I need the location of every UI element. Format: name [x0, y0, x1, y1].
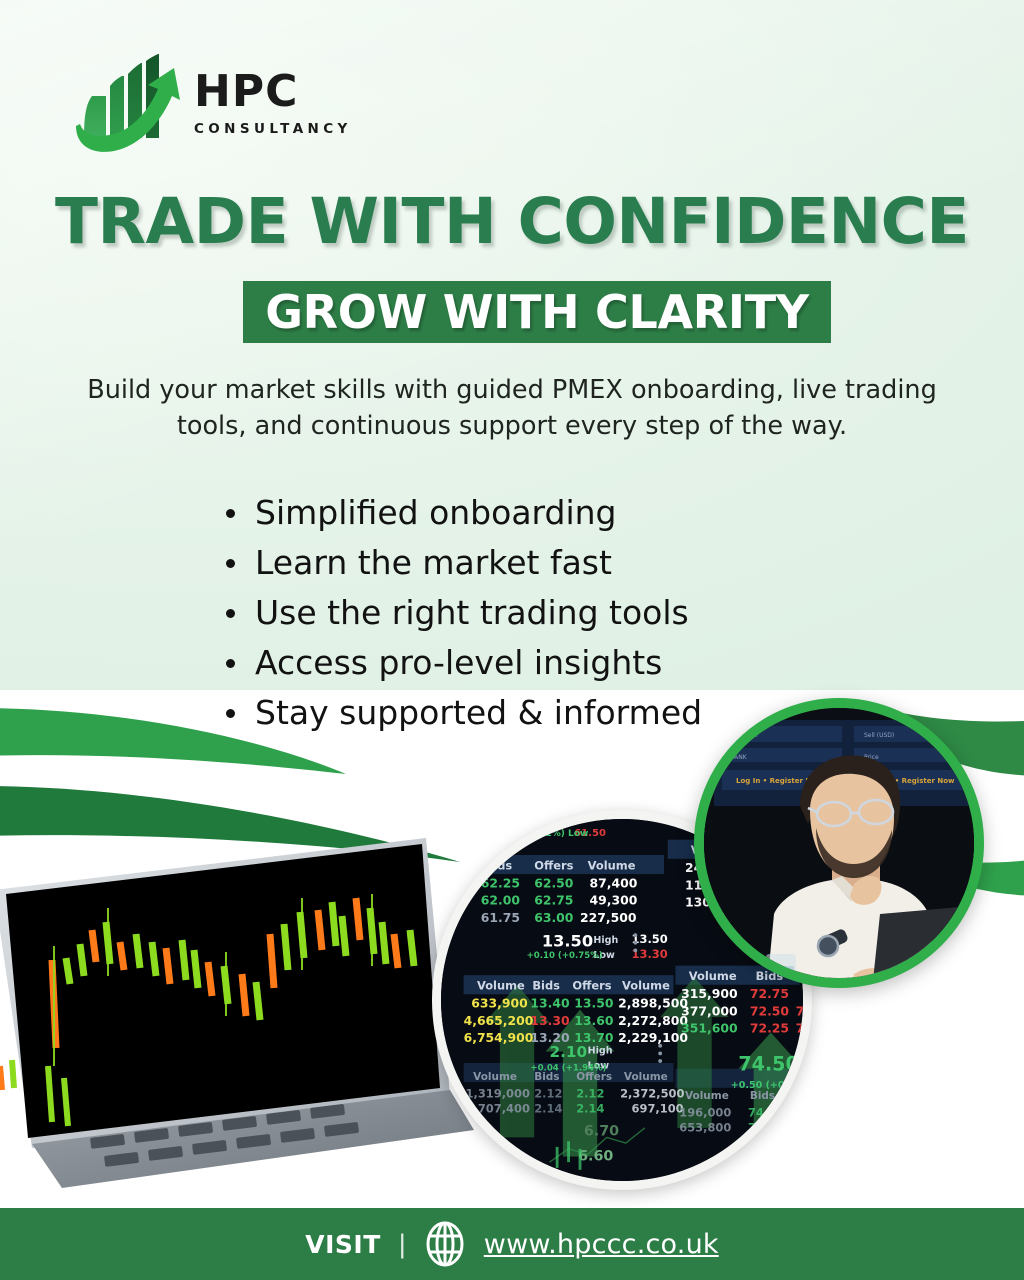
laptop-candlestick-image — [0, 838, 490, 1238]
footer-bar: VISIT | www.hpccc.co.uk — [0, 1208, 1024, 1280]
svg-text:62.75: 62.75 — [534, 893, 573, 908]
trader-portrait-graphic: Log In • Register Now Log In • Register … — [704, 708, 984, 988]
bullet-dot-icon — [226, 609, 235, 618]
svg-text:315,900: 315,900 — [681, 986, 738, 1001]
svg-text:Bids: Bids — [750, 1090, 775, 1102]
svg-text:Offers: Offers — [790, 1090, 809, 1102]
svg-text:1) - USDT: 1) - USDT — [730, 732, 759, 739]
svg-text:Volume: Volume — [473, 1071, 517, 1083]
hero-description: Build your market skills with guided PME… — [84, 372, 940, 444]
svg-text:High: High — [588, 1045, 613, 1056]
svg-text:Offers: Offers — [576, 1071, 612, 1083]
svg-text:227,500: 227,500 — [580, 910, 637, 925]
svg-text:697,100: 697,100 — [632, 1102, 684, 1116]
svg-text:2,372,500: 2,372,500 — [620, 1086, 684, 1100]
svg-text:Volume: Volume — [588, 858, 636, 872]
svg-text:Volume: Volume — [685, 1090, 729, 1102]
svg-text:653,800: 653,800 — [679, 1121, 731, 1135]
logo-wordmark: HPC CONSULTANCY — [194, 70, 352, 137]
page-title: TRADE WITH CONFIDENCE — [0, 185, 1024, 258]
svg-text:61.75: 61.75 — [481, 910, 520, 925]
svg-text:2,272,800: 2,272,800 — [618, 1013, 688, 1028]
list-item-label: Simplified onboarding — [255, 493, 617, 532]
list-item-label: Learn the market fast — [255, 543, 612, 582]
media-collage: 61.50 +0.60 (+0.81%) Low Bids Offers Vol… — [0, 688, 1024, 1208]
svg-text:6.70: 6.70 — [584, 1123, 619, 1139]
visit-label: VISIT — [305, 1230, 381, 1259]
page-subtitle: GROW WITH CLARITY — [265, 285, 809, 339]
svg-text:Offers: Offers — [534, 858, 573, 872]
svg-text:Sell (USD): Sell (USD) — [864, 732, 894, 739]
list-item-label: Access pro-level insights — [255, 643, 662, 682]
svg-text:74.50: 74.50 — [748, 1105, 784, 1119]
svg-text:Volume: Volume — [477, 979, 525, 993]
list-item-label: Use the right trading tools — [255, 593, 689, 632]
list-item: Use the right trading tools — [222, 588, 702, 638]
svg-text:6,754,900: 6,754,900 — [464, 1030, 534, 1045]
svg-text:13.30: 13.30 — [632, 947, 668, 961]
svg-text:Bids: Bids — [532, 979, 560, 993]
svg-text:74.25: 74.25 — [748, 1121, 784, 1135]
list-item: Access pro-level insights — [222, 638, 702, 688]
svg-text:49,300: 49,300 — [590, 893, 638, 908]
svg-text:+0.10 (+0.75%): +0.10 (+0.75%) — [527, 951, 603, 961]
svg-text:13.30: 13.30 — [530, 1013, 570, 1028]
svg-text:Offers: Offers — [572, 979, 611, 993]
svg-text:73.50: 73.50 — [796, 1020, 809, 1035]
website-link[interactable]: www.hpccc.co.uk — [484, 1229, 719, 1260]
list-item: Learn the market fast — [222, 538, 702, 588]
svg-text:+0.60 (+0.81%) Low: +0.60 (+0.81%) Low — [485, 829, 589, 839]
bullet-dot-icon — [226, 509, 235, 518]
globe-icon — [424, 1221, 466, 1267]
svg-text:13.60: 13.60 — [574, 1013, 614, 1028]
svg-text:62.25: 62.25 — [481, 875, 520, 890]
svg-text:73.25: 73.25 — [796, 1003, 809, 1018]
svg-text:62.00: 62.00 — [481, 893, 521, 908]
svg-text:4,665,200: 4,665,200 — [464, 1013, 534, 1028]
svg-text:Volume: Volume — [689, 969, 737, 983]
footer-separator: | — [399, 1229, 406, 1260]
svg-text:377,000: 377,000 — [681, 1003, 738, 1018]
svg-text:351,600: 351,600 — [681, 1020, 738, 1035]
logo-tagline: CONSULTANCY — [194, 121, 352, 137]
svg-text:2.12: 2.12 — [576, 1086, 604, 1100]
svg-text:1,319,000: 1,319,000 — [466, 1086, 530, 1100]
svg-text:Volume: Volume — [622, 979, 670, 993]
svg-text:Volume: Volume — [624, 1071, 668, 1083]
trader-portrait-circle-image: Log In • Register Now Log In • Register … — [694, 698, 984, 988]
svg-text:+0.50 (+0.68%): +0.50 (+0.68%) — [731, 1080, 809, 1091]
svg-text:High: High — [593, 935, 618, 946]
svg-text:72.50: 72.50 — [750, 1003, 790, 1018]
svg-text:13.50: 13.50 — [574, 996, 614, 1011]
bullet-dot-icon — [226, 559, 235, 568]
svg-text:2.12: 2.12 — [534, 1086, 562, 1100]
svg-text:2.14: 2.14 — [534, 1102, 562, 1116]
svg-text:2,898,500: 2,898,500 — [618, 996, 688, 1011]
logo-name: HPC — [194, 70, 352, 114]
bar-chart-growth-arrow-icon — [66, 52, 196, 158]
svg-text:2.14: 2.14 — [576, 1102, 604, 1116]
svg-text:1,707,400: 1,707,400 — [466, 1102, 530, 1116]
svg-text:Bids: Bids — [485, 858, 513, 872]
poster-root: HPC CONSULTANCY TRADE WITH CONFIDENCE GR… — [0, 0, 1024, 1280]
svg-text:63.00: 63.00 — [534, 910, 574, 925]
svg-text:87,400: 87,400 — [590, 875, 638, 890]
brand-logo[interactable]: HPC CONSULTANCY — [66, 52, 306, 160]
list-item: Simplified onboarding — [222, 488, 702, 538]
svg-text:13.50: 13.50 — [542, 932, 593, 951]
subtitle-banner: GROW WITH CLARITY — [243, 281, 831, 343]
svg-text:196,000: 196,000 — [679, 1105, 731, 1119]
svg-text:62.50: 62.50 — [534, 875, 574, 890]
svg-text:633,900: 633,900 — [471, 996, 528, 1011]
svg-text:72.25: 72.25 — [750, 1020, 789, 1035]
bullet-dot-icon — [226, 659, 235, 668]
svg-text:BANK: BANK — [730, 754, 748, 761]
svg-text:13.40: 13.40 — [530, 996, 570, 1011]
svg-text:Bids: Bids — [534, 1071, 559, 1083]
svg-text:6.60: 6.60 — [578, 1148, 613, 1164]
svg-text:2.10: 2.10 — [549, 1043, 587, 1061]
svg-text:74.50: 74.50 — [738, 1054, 798, 1076]
svg-text:2,229,100: 2,229,100 — [618, 1030, 688, 1045]
svg-text:72.75: 72.75 — [750, 986, 789, 1001]
